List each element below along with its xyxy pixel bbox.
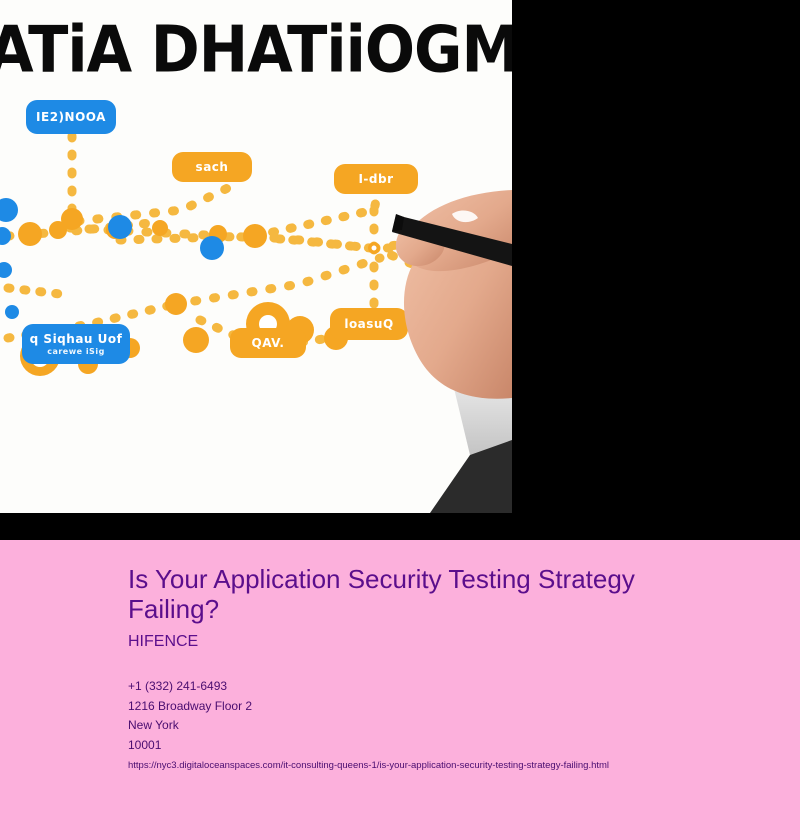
diagram-label-b: sach <box>172 152 252 182</box>
contact-street: 1216 Broadway Floor 2 <box>128 697 768 717</box>
board-title-text: ATiA DHATiiOGMTA <box>0 8 512 92</box>
hero-band: ATiA DHATiiOGMTA <box>0 0 800 540</box>
diagram-label-d-subtext: carewe iSig <box>47 347 105 356</box>
contact-phone[interactable]: +1 (332) 241-6493 <box>128 677 768 697</box>
diagram-label-f-text: loasuQ <box>344 317 393 331</box>
page-title: Is Your Application Security Testing Str… <box>128 564 648 624</box>
contact-block: +1 (332) 241-6493 1216 Broadway Floor 2 … <box>128 677 768 774</box>
info-content: Is Your Application Security Testing Str… <box>128 564 768 774</box>
contact-zip: 10001 <box>128 736 768 756</box>
brand-name: HIFENCE <box>128 632 768 652</box>
diagram-label-c: I-dbr <box>334 164 418 194</box>
page-root: ATiA DHATiiOGMTA <box>0 0 800 840</box>
diagram-label-a: IE2)NOOA <box>26 100 116 134</box>
diagram-label-d-text: q Siqhau Uof <box>30 332 123 346</box>
diagram-label-a-text: IE2)NOOA <box>36 110 106 124</box>
diagram-label-e-text: QAV. <box>252 336 285 350</box>
diagram-label-c-text: I-dbr <box>358 172 393 186</box>
source-url[interactable]: https://nyc3.digitaloceanspaces.com/it-c… <box>128 757 768 774</box>
diagram-label-f: loasuQ <box>330 308 408 340</box>
diagram-label-e: QAV. <box>230 328 306 358</box>
diagram-label-d: q Siqhau Uof carewe iSig <box>22 324 130 364</box>
contact-city: New York <box>128 716 768 736</box>
diagram-label-b-text: sach <box>196 160 229 174</box>
hero-image: ATiA DHATiiOGMTA <box>0 0 512 513</box>
sleeve <box>430 420 512 513</box>
info-panel: Is Your Application Security Testing Str… <box>0 540 800 840</box>
